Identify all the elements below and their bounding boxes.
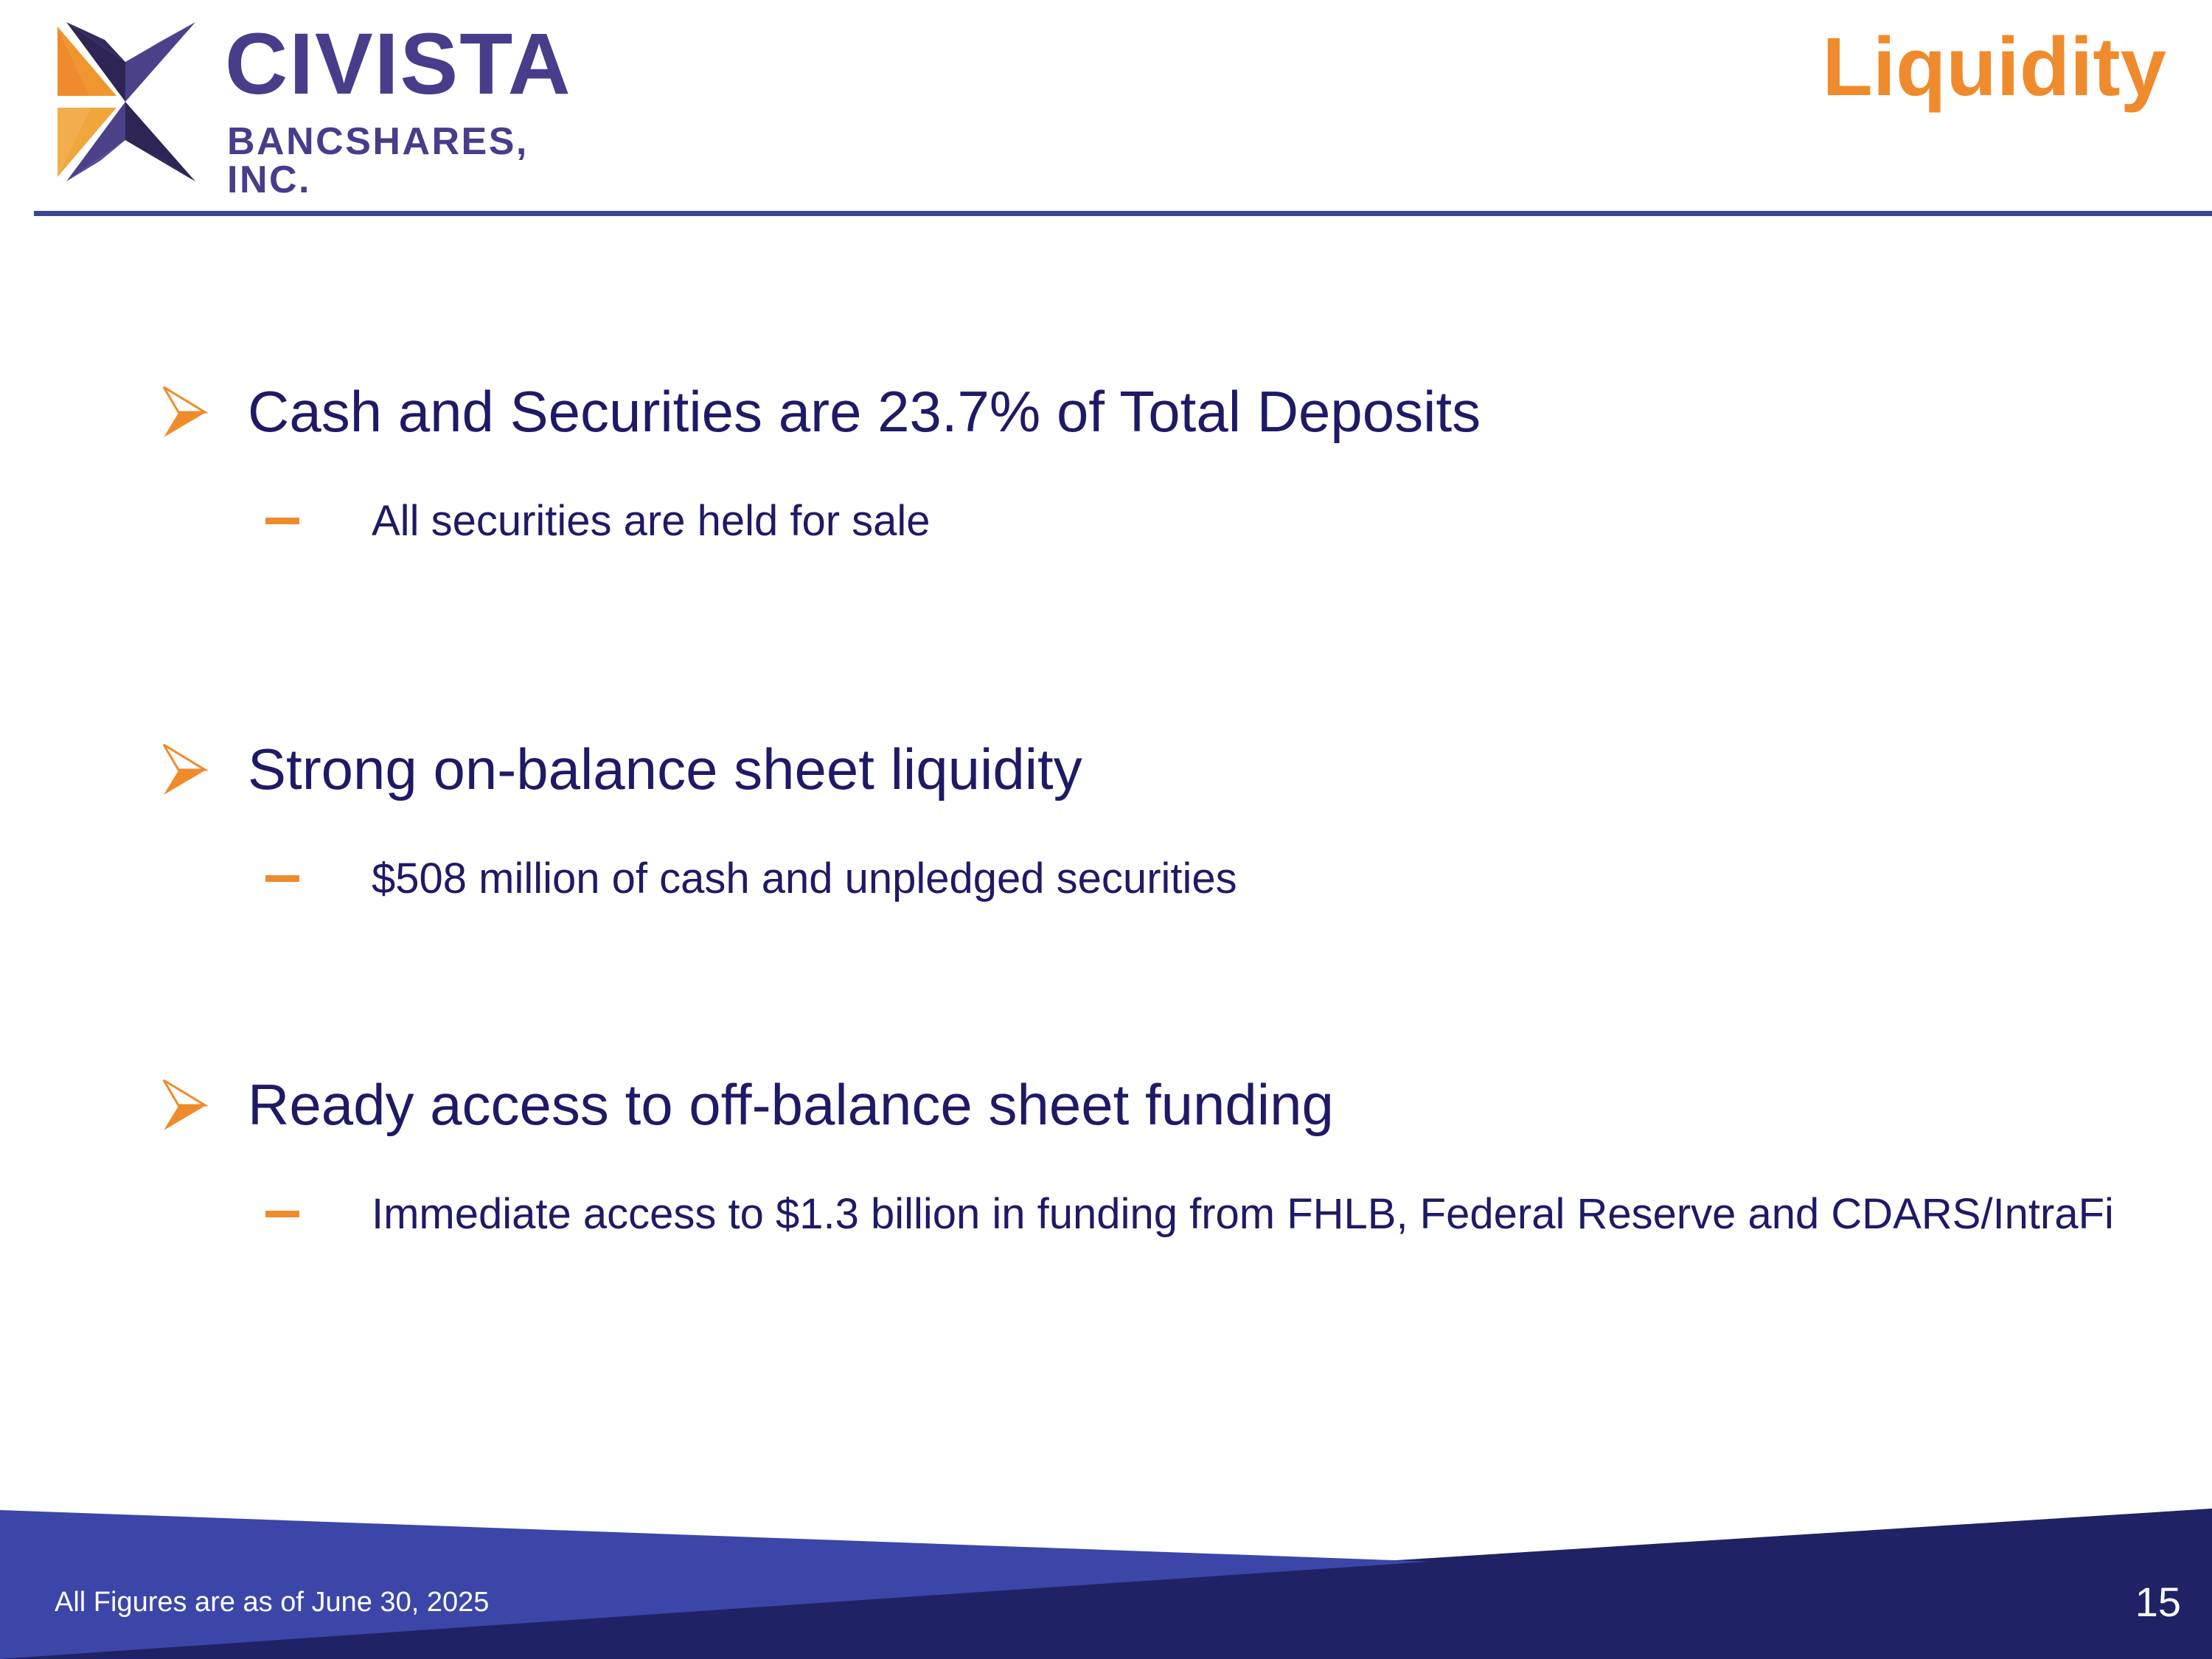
footer-band-graphic: [0, 1504, 2212, 1659]
bullet-item-2: Strong on-balance sheet liquidity: [162, 737, 1082, 801]
sub-bullet-item-2-1: $508 million of cash and unpledged secur…: [265, 852, 1237, 906]
logo-wordmark: CIVISTA BANCSHARES, INC.: [225, 21, 586, 179]
bullet-item-2-label: Strong on-balance sheet liquidity: [248, 737, 1082, 801]
sub-bullet-item-1-1: All securities are held for sale: [265, 494, 931, 549]
slide-number: 15: [2135, 1578, 2181, 1626]
company-logo: CIVISTA BANCSHARES, INC.: [29, 7, 590, 192]
sub-bullet-item-2-1-label: $508 million of cash and unpledged secur…: [372, 852, 1237, 906]
header-divider: [34, 211, 2212, 216]
bullet-item-1: Cash and Securities are 23.7% of Total D…: [162, 380, 1481, 444]
slide-header: CIVISTA BANCSHARES, INC. Liquidity: [0, 0, 2212, 214]
arrow-bullet-icon: [162, 1079, 208, 1133]
slide-footer: All Figures are as of June 30, 2025 15: [0, 1504, 2212, 1659]
sub-bullet-item-3-1-label: Immediate access to $1.3 billion in fund…: [372, 1187, 2114, 1242]
slide-body: Cash and Securities are 23.7% of Total D…: [0, 243, 2212, 1497]
arrow-bullet-icon: [162, 386, 208, 440]
logo-wordmark-primary: CIVISTA: [225, 21, 572, 108]
dash-bullet-icon: [265, 875, 299, 882]
arrow-bullet-icon: [162, 743, 208, 798]
logo-wordmark-secondary: BANCSHARES, INC.: [227, 122, 586, 199]
page-title: Liquidity: [1822, 24, 2166, 111]
slide-canvas: CIVISTA BANCSHARES, INC. Liquidity Cash …: [0, 0, 2212, 1659]
bullet-item-3-label: Ready access to off-balance sheet fundin…: [248, 1073, 1334, 1137]
sub-bullet-item-3-1: Immediate access to $1.3 billion in fund…: [265, 1187, 2114, 1242]
bullet-item-3: Ready access to off-balance sheet fundin…: [162, 1073, 1334, 1137]
civista-star-logo-icon: [37, 13, 214, 190]
dash-bullet-icon: [265, 1211, 299, 1217]
footer-note: All Figures are as of June 30, 2025: [55, 1587, 489, 1618]
sub-bullet-item-1-1-label: All securities are held for sale: [372, 494, 931, 549]
dash-bullet-icon: [265, 518, 299, 524]
bullet-item-1-label: Cash and Securities are 23.7% of Total D…: [248, 380, 1481, 444]
